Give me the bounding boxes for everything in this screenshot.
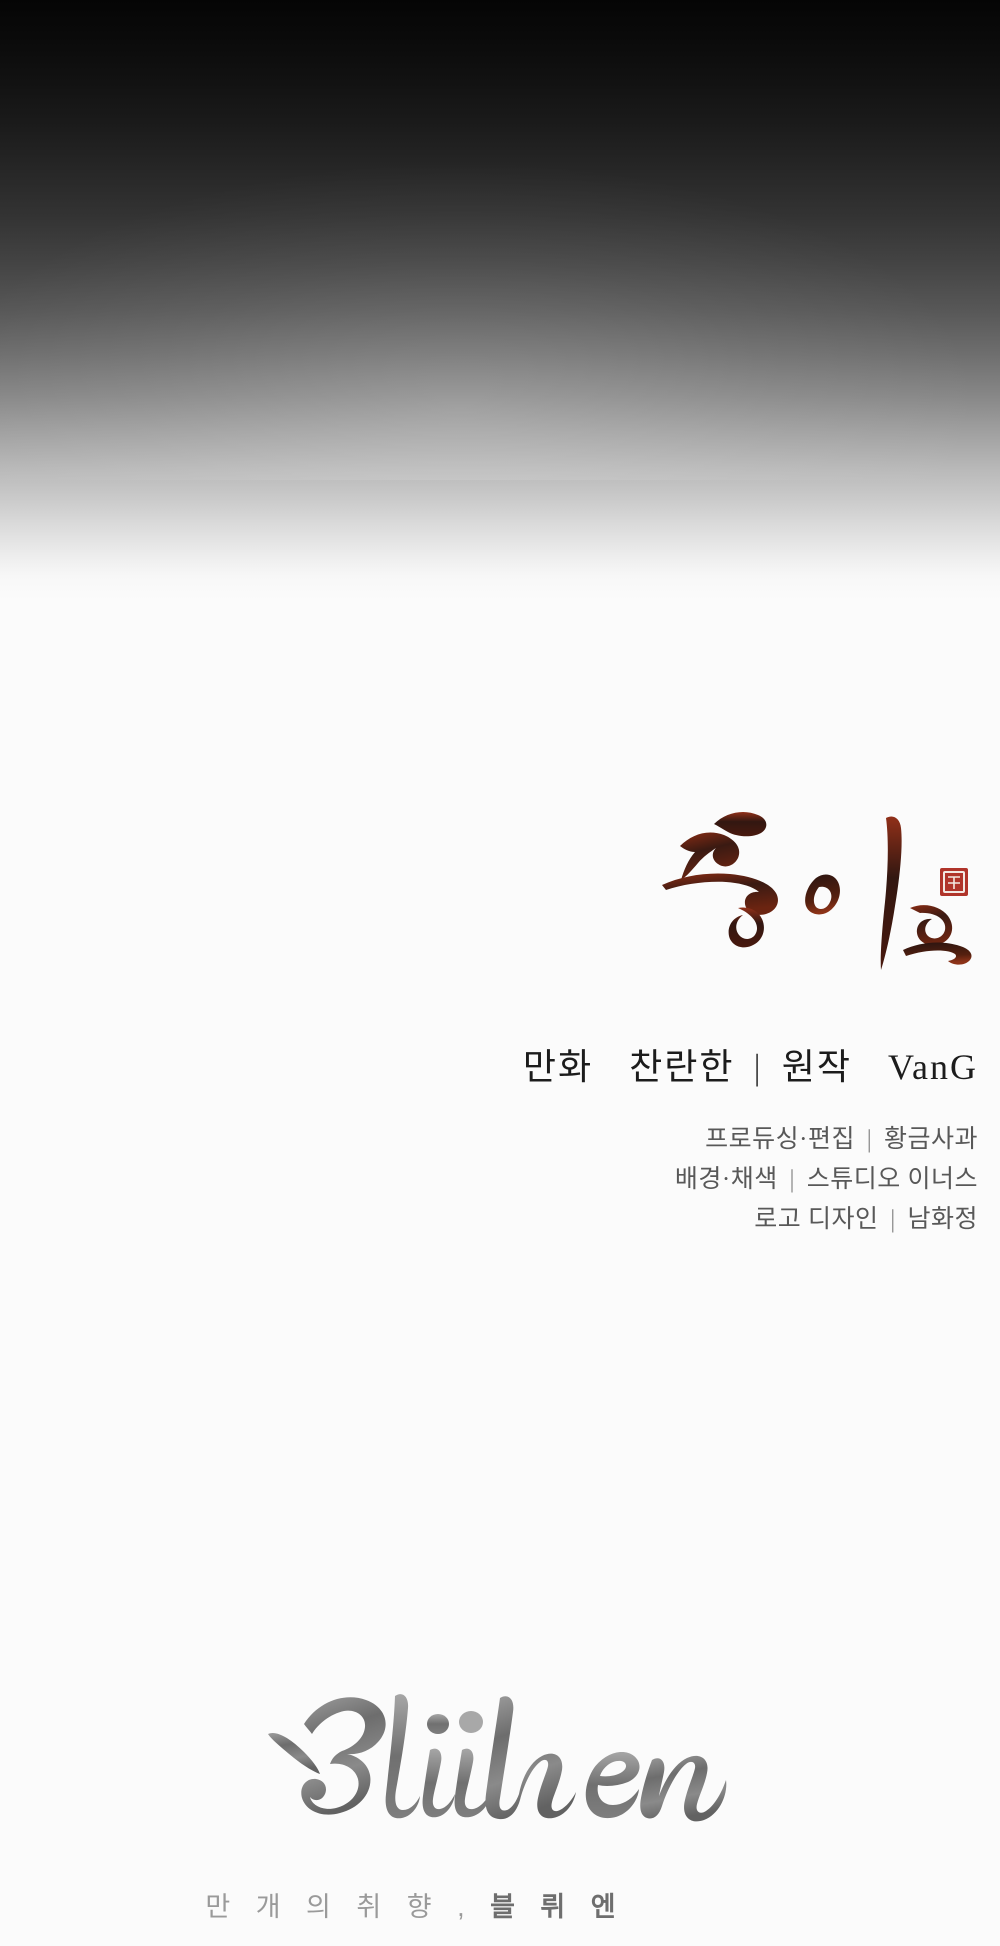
- credit-main-line: 만화 찬란한 | 원작 VanG: [0, 1038, 1000, 1090]
- title-block: 종이꽃: [0, 790, 1000, 985]
- brand-block: [0, 1672, 1000, 1867]
- credit-role-original: 원작: [782, 1047, 852, 1087]
- title-calligraphy-artwork: 종이꽃: [648, 790, 978, 980]
- credit-separator: |: [784, 1166, 800, 1193]
- credit-row-logo-design: 로고 디자인 | 남화정: [0, 1200, 978, 1240]
- tagline-prefix: 만 개 의 취 향 ,: [205, 1892, 473, 1922]
- webtoon-title-page: 종이꽃 만화 찬란한 | 원작 VanG 프로듀싱·편집 | 황금사과 배경·채…: [0, 0, 1000, 1946]
- credit-separator: |: [885, 1206, 901, 1233]
- credit-name-producing: 황금사과: [884, 1126, 978, 1153]
- credit-role-logo-design: 로고 디자인: [754, 1206, 878, 1233]
- credit-separator: |: [746, 1047, 771, 1087]
- credit-role-background: 배경·채색: [675, 1166, 778, 1193]
- credit-row-background: 배경·채색 | 스튜디오 이너스: [0, 1160, 978, 1200]
- credit-row-producing: 프로듀싱·편집 | 황금사과: [0, 1120, 978, 1160]
- credit-separator: |: [862, 1126, 878, 1153]
- tagline-brand-name: 블 뤼 엔: [490, 1892, 625, 1922]
- credit-name-artist: 찬란한: [629, 1047, 734, 1087]
- brand-tagline: 만 개 의 취 향 , 블 뤼 엔: [0, 1885, 1000, 1924]
- credit-name-original: VanG: [888, 1047, 978, 1087]
- credit-sub-block: 프로듀싱·편집 | 황금사과 배경·채색 | 스튜디오 이너스 로고 디자인 |…: [0, 1120, 1000, 1240]
- credit-role-artist: 만화: [523, 1047, 593, 1087]
- credit-role-producing: 프로듀싱·편집: [705, 1126, 855, 1153]
- gradient-background-band: [0, 0, 1000, 600]
- credit-name-logo-design: 남화정: [907, 1206, 978, 1233]
- credit-name-background: 스튜디오 이너스: [807, 1166, 978, 1193]
- bluhen-logo: [260, 1672, 740, 1862]
